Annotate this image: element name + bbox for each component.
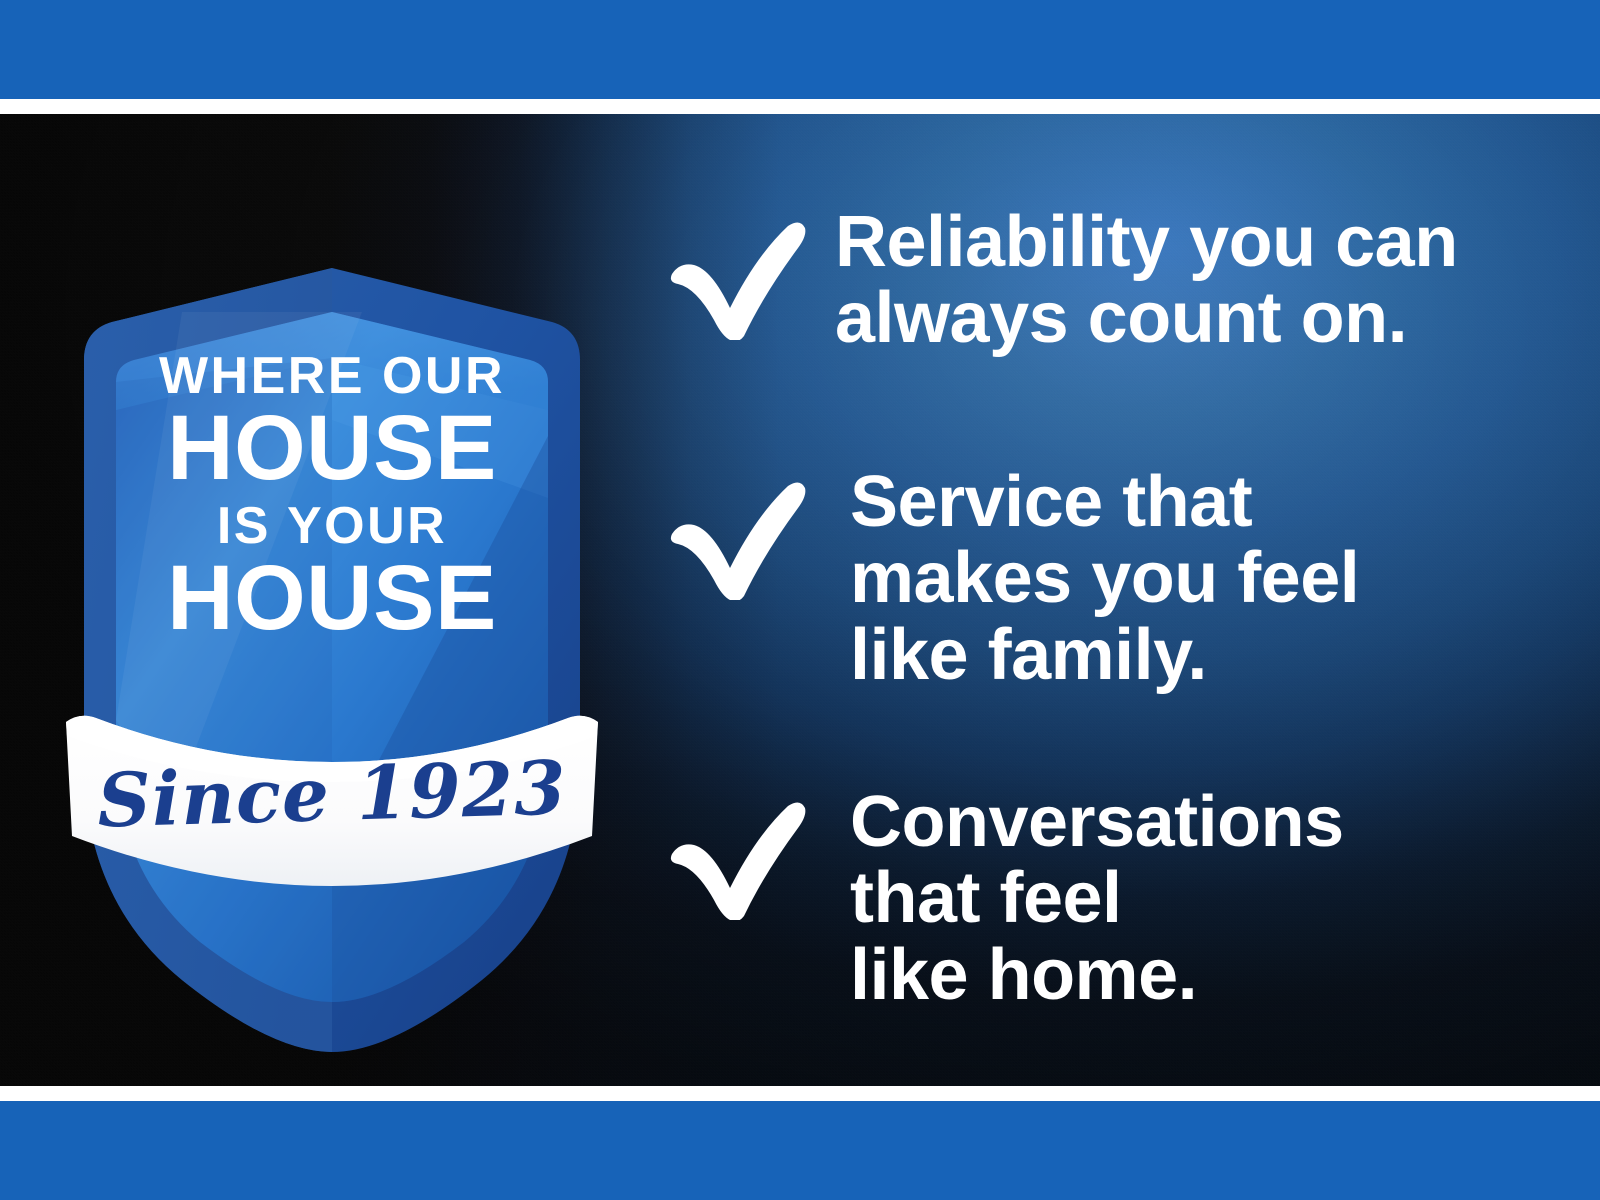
list-item-line: like family. [850,617,1560,693]
benefits-list: Reliability you can always count on. Ser… [660,114,1560,1086]
list-item-line: Service that [850,464,1560,540]
list-item-line: always count on. [835,280,1560,356]
list-item-line: makes you feel [850,540,1560,616]
list-item-line: like home. [850,937,1560,1013]
shield-graphic [62,250,602,1060]
list-item-line: Reliability you can [835,204,1560,280]
list-item-line: Conversations [850,784,1560,860]
list-item-text: Reliability you can always count on. [835,204,1560,357]
list-item: Reliability you can always count on. [660,204,1560,357]
promo-poster: WHERE OUR HOUSE IS YOUR HOUSE Since 1923… [0,0,1600,1200]
top-brand-bar [0,0,1600,99]
checkmark-icon [660,464,850,605]
list-item-text: Conversations that feel like home. [850,784,1560,1013]
checkmark-icon [660,204,835,345]
list-item: Service that makes you feel like family. [660,464,1560,693]
shield-badge: WHERE OUR HOUSE IS YOUR HOUSE Since 1923 [62,250,602,1060]
list-item-line: that feel [850,860,1560,936]
checkmark-icon [660,784,850,925]
list-item: Conversations that feel like home. [660,784,1560,1013]
list-item-text: Service that makes you feel like family. [850,464,1560,693]
bottom-brand-bar [0,1101,1600,1200]
poster-stage: WHERE OUR HOUSE IS YOUR HOUSE Since 1923… [0,114,1600,1086]
